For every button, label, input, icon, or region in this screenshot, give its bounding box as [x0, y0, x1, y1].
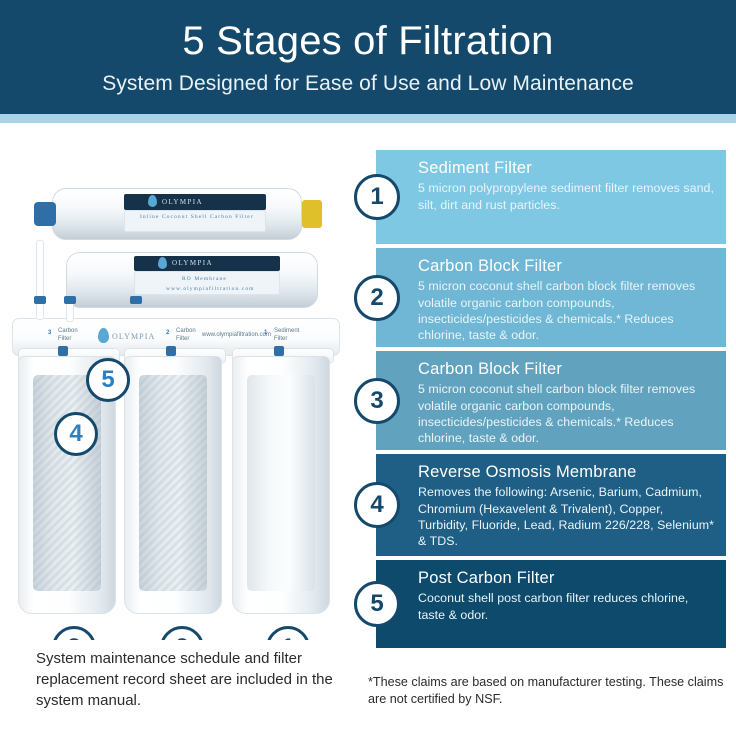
- bracket-logo-drop-icon: [98, 328, 109, 343]
- tube-fitting-a: [64, 296, 76, 304]
- filter-cartridge-2: [139, 375, 207, 591]
- stage-badge-2-number: 2: [370, 284, 383, 312]
- stage-badge-1-number: 1: [370, 183, 383, 211]
- stage-title-3: Carbon Block Filter: [418, 360, 714, 379]
- bracket-tag-2-number: 2: [166, 330, 169, 336]
- filter-cartridge-1: [247, 375, 315, 591]
- filter-housing-1: [232, 356, 330, 614]
- photo-callout-1: 1: [266, 626, 310, 640]
- bracket-tag-3-number: 3: [48, 330, 51, 336]
- stage-badge-5-number: 5: [370, 590, 383, 618]
- stage-title-1: Sediment Filter: [418, 159, 714, 178]
- stage-item-3[interactable]: 3 Carbon Block Filter 5 micron coconut s…: [374, 349, 728, 452]
- photo-callout-5-number: 5: [101, 366, 114, 394]
- stage-item-2[interactable]: 2 Carbon Block Filter 5 micron coconut s…: [374, 246, 728, 349]
- stage-description-3: 5 micron coconut shell carbon block filt…: [418, 381, 714, 446]
- stage-description-5: Coconut shell post carbon filter reduces…: [418, 590, 714, 622]
- header-accent-stripe: [0, 114, 736, 123]
- tube-fitting-b: [34, 296, 46, 304]
- page-subtitle: System Designed for Ease of Use and Low …: [102, 72, 634, 96]
- housing-fitting-2: [166, 346, 176, 356]
- bracket-brand-text: OLYMPIA: [112, 332, 155, 341]
- photo-callout-4-number: 4: [69, 420, 82, 448]
- water-drop-icon: [148, 195, 157, 207]
- bracket-tag-3-line1: Carbon: [58, 328, 78, 334]
- stage-list: 1 Sediment Filter 5 micron polypropylene…: [374, 148, 728, 650]
- website-text-membrane: www.olympiafiltration.com: [166, 286, 255, 292]
- filter-housing-2: [124, 356, 222, 614]
- housing-fitting-1: [274, 346, 284, 356]
- housing-fitting-3: [58, 346, 68, 356]
- vessel-fitting-left: [34, 202, 56, 226]
- bracket-tag-2-line1: Carbon: [176, 328, 196, 334]
- stage-badge-5: 5: [354, 581, 400, 627]
- stage-title-4: Reverse Osmosis Membrane: [418, 463, 714, 482]
- photo-callout-3-number: 3: [67, 634, 80, 640]
- bracket-tag-1-line2: Filter: [274, 336, 287, 342]
- stage-badge-3: 3: [354, 378, 400, 424]
- tube-left: [36, 240, 44, 320]
- photo-callout-4: 4: [54, 412, 98, 456]
- brand-text-top: OLYMPIA: [162, 198, 203, 206]
- bracket-website-text: www.olympiafiltration.com: [202, 332, 271, 338]
- stage-description-4: Removes the following: Arsenic, Barium, …: [418, 484, 714, 549]
- page-title: 5 Stages of Filtration: [182, 19, 553, 63]
- stage-badge-2: 2: [354, 275, 400, 321]
- maintenance-note: System maintenance schedule and filter r…: [36, 648, 336, 711]
- water-drop-icon-membrane: [158, 257, 167, 269]
- stage-description-2: 5 micron coconut shell carbon block filt…: [418, 278, 714, 343]
- stage-title-5: Post Carbon Filter: [418, 569, 714, 588]
- product-photo: OLYMPIA Inline Coconut Shell Carbon Filt…: [6, 150, 350, 640]
- bracket-tag-2-line2: Filter: [176, 336, 189, 342]
- stage-badge-4-number: 4: [370, 491, 383, 519]
- tube-fitting-c: [130, 296, 142, 304]
- stage-item-1[interactable]: 1 Sediment Filter 5 micron polypropylene…: [374, 148, 728, 246]
- stage-badge-4: 4: [354, 482, 400, 528]
- filter-cartridge-3: [33, 375, 101, 591]
- stage-title-2: Carbon Block Filter: [418, 257, 714, 276]
- vessel-fitting-right: [302, 200, 322, 228]
- photo-callout-1-number: 1: [281, 634, 294, 640]
- ro-system-illustration: OLYMPIA Inline Coconut Shell Carbon Filt…: [6, 150, 350, 640]
- stage-item-5[interactable]: 5 Post Carbon Filter Coconut shell post …: [374, 558, 728, 650]
- bracket-tag-3-line2: Filter: [58, 336, 71, 342]
- photo-callout-5: 5: [86, 358, 130, 402]
- stage-badge-3-number: 3: [370, 387, 383, 415]
- infographic-page: 5 Stages of Filtration System Designed f…: [0, 0, 736, 736]
- photo-callout-2: 2: [160, 626, 204, 640]
- stage-description-1: 5 micron polypropylene sediment filter r…: [418, 180, 714, 212]
- photo-callout-2-number: 2: [175, 634, 188, 640]
- stage-badge-1: 1: [354, 174, 400, 220]
- photo-callout-3: 3: [52, 626, 96, 640]
- header-banner: 5 Stages of Filtration System Designed f…: [0, 0, 736, 114]
- nsf-disclaimer: *These claims are based on manufacturer …: [368, 674, 728, 709]
- bracket-tag-1-line1: Sediment: [274, 328, 299, 334]
- brand-text-membrane: OLYMPIA: [172, 259, 213, 267]
- membrane-label-text: RO Membrane: [182, 276, 227, 282]
- stage-item-4[interactable]: 4 Reverse Osmosis Membrane Removes the f…: [374, 452, 728, 558]
- post-carbon-label-text: Inline Coconut Shell Carbon Filter: [140, 214, 254, 220]
